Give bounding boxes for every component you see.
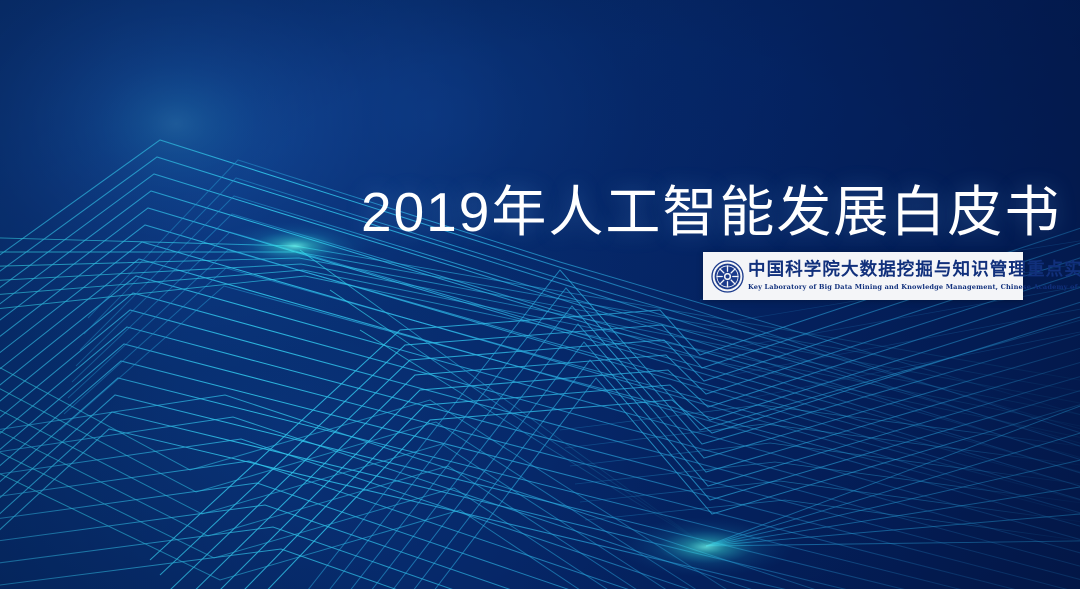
title-slide: 2019年人工智能发展白皮书 中国科学院大数据挖掘与知识管理重点实验室 Key … (0, 0, 1080, 589)
lab-name-english: Key Laboratory of Big Data Mining and Kn… (748, 283, 1080, 291)
ridge-glow-bottom-right (618, 517, 794, 577)
ambient-glow-top-left (26, 14, 326, 234)
cas-emblem-icon (711, 260, 744, 293)
ridge-glow-left (217, 220, 373, 272)
lab-logo-text-block: 中国科学院大数据挖掘与知识管理重点实验室 Key Laboratory of B… (744, 261, 1080, 291)
lab-name-chinese: 中国科学院大数据挖掘与知识管理重点实验室 (748, 261, 1080, 281)
page-title: 2019年人工智能发展白皮书 (361, 182, 1061, 243)
lab-logo-plate: 中国科学院大数据挖掘与知识管理重点实验室 Key Laboratory of B… (703, 252, 1023, 300)
